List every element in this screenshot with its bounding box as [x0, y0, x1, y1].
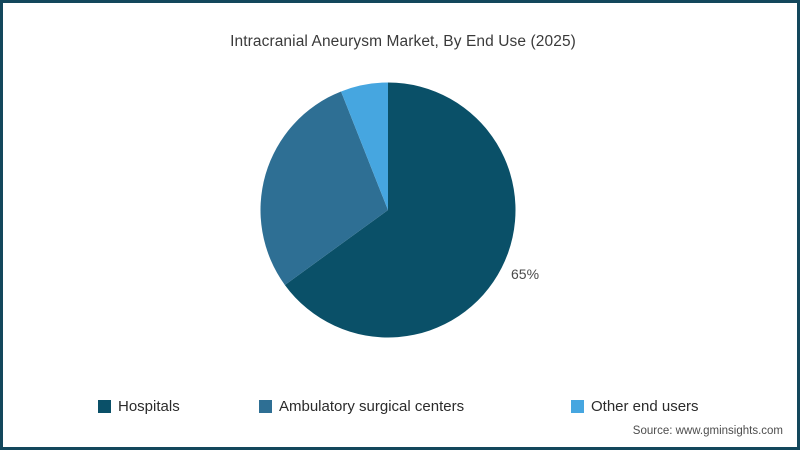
pie-data-label-hospitals: 65% [511, 266, 539, 282]
legend-item-ambulatory-surgical-centers[interactable]: Ambulatory surgical centers [259, 395, 464, 417]
legend-label-ambulatory-surgical-centers: Ambulatory surgical centers [279, 398, 464, 415]
pie-slice-group [260, 83, 515, 338]
chart-legend: Hospitals Ambulatory surgical centers Ot… [3, 395, 800, 419]
pie-chart [260, 82, 516, 338]
legend-swatch-icon-other-end-users [571, 400, 584, 413]
chart-figure: Intracranial Aneurysm Market, By End Use… [0, 0, 800, 450]
legend-item-hospitals[interactable]: Hospitals [98, 395, 180, 417]
legend-label-other-end-users: Other end users [591, 398, 699, 415]
legend-label-hospitals: Hospitals [118, 398, 180, 415]
chart-title: Intracranial Aneurysm Market, By End Use… [3, 33, 800, 51]
legend-swatch-icon-hospitals [98, 400, 111, 413]
legend-item-other-end-users[interactable]: Other end users [571, 395, 699, 417]
pie-chart-svg [260, 82, 516, 338]
legend-swatch-icon-ambulatory-surgical-centers [259, 400, 272, 413]
source-note: Source: www.gminsights.com [633, 425, 783, 437]
